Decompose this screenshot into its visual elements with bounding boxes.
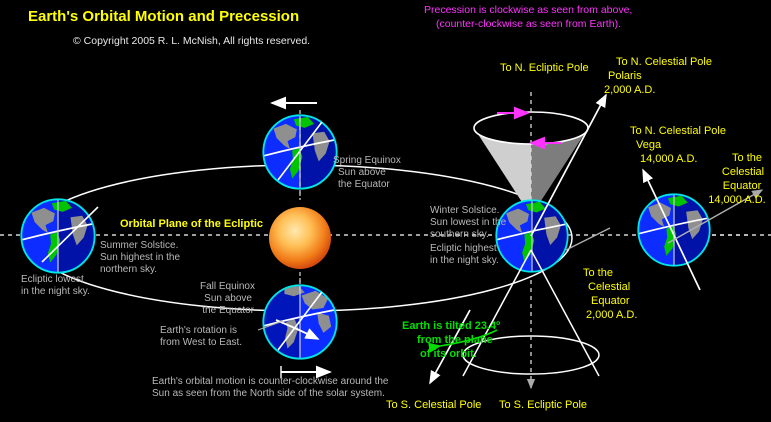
summer-solstice-line3: northern sky. <box>100 264 157 276</box>
winter-solstice-line1: Winter Solstice. <box>430 205 499 217</box>
fall-equinox-line1: Fall Equinox <box>153 281 255 293</box>
earth-globe-summer-solstice <box>19 197 97 275</box>
s-celestial-pole-label: To S. Celestial Pole <box>386 399 481 412</box>
s-ecliptic-pole-label: To S. Ecliptic Pole <box>499 399 587 412</box>
ecliptic-highest-line2: in the night sky. <box>430 255 499 267</box>
winter-solstice-line2: Sun lowest in the <box>430 217 506 229</box>
earth-globe-14000ad <box>636 192 712 268</box>
page-title: Earth's Orbital Motion and Precession <box>28 8 299 26</box>
spring-equinox-line1: Spring Equinox <box>333 155 401 167</box>
fall-equinox-line2: Sun above <box>153 293 252 305</box>
ce-14000-line3: Equator <box>714 180 770 193</box>
tilt-note-line3: of its orbit. <box>420 348 477 361</box>
ce-14000-line4: 14,000 A.D. <box>704 194 770 207</box>
fall-equinox-line3: the Equator <box>153 305 254 317</box>
tilt-note-line1: Earth is tilted 23.4º <box>402 320 500 333</box>
winter-solstice-line3: southern sky. <box>430 229 489 241</box>
ecliptic-highest-line1: Ecliptic highest <box>430 243 497 255</box>
summer-solstice-line2: Sun highest in the <box>100 252 180 264</box>
copyright-notice: © Copyright 2005 R. L. McNish, All right… <box>73 35 310 47</box>
ecliptic-lowest-line1: Ecliptic lowest <box>21 274 84 286</box>
ce-2000-line2: Celestial <box>588 281 630 294</box>
vega-label-line2: Vega <box>636 139 661 152</box>
polaris-label-line2: Polaris <box>608 70 642 83</box>
spring-equinox-line2: Sun above <box>338 167 386 179</box>
ce-2000-line3: Equator <box>591 295 630 308</box>
rotation-note-line1: Earth's rotation is <box>160 325 237 337</box>
polaris-label-line3: 2,000 A.D. <box>604 84 655 97</box>
rotation-note-line2: from West to East. <box>160 337 242 349</box>
vega-label-line1: To N. Celestial Pole <box>630 125 726 138</box>
polaris-label-line1: To N. Celestial Pole <box>616 56 712 69</box>
precession-note-line1: Precession is clockwise as seen from abo… <box>424 4 632 16</box>
sun-icon <box>269 207 331 269</box>
summer-solstice-line1: Summer Solstice. <box>100 240 178 252</box>
earth-globe-winter-solstice <box>494 198 570 274</box>
ce-14000-line1: To the <box>724 152 770 165</box>
orbit-caption-line1: Earth's orbital motion is counter-clockw… <box>152 376 388 388</box>
vega-label-line3: 14,000 A.D. <box>640 153 698 166</box>
tilt-note-line2: from the plane <box>417 334 493 347</box>
ecliptic-lowest-line2: in the night sky. <box>21 286 90 298</box>
diagram-canvas: Earth's Orbital Motion and Precession © … <box>0 0 771 422</box>
ce-14000-line2: Celestial <box>716 166 770 179</box>
n-ecliptic-pole-label: To N. Ecliptic Pole <box>500 62 589 75</box>
orbital-plane-label: Orbital Plane of the Ecliptic <box>120 218 263 231</box>
orbit-caption-line2: Sun as seen from the North side of the s… <box>152 388 385 400</box>
ce-2000-line4: 2,000 A.D. <box>586 309 637 322</box>
spring-equinox-line3: the Equator <box>338 179 390 191</box>
precession-note-line2: (counter-clockwise as seen from Earth). <box>436 18 621 30</box>
ce-2000-line1: To the <box>583 267 613 280</box>
